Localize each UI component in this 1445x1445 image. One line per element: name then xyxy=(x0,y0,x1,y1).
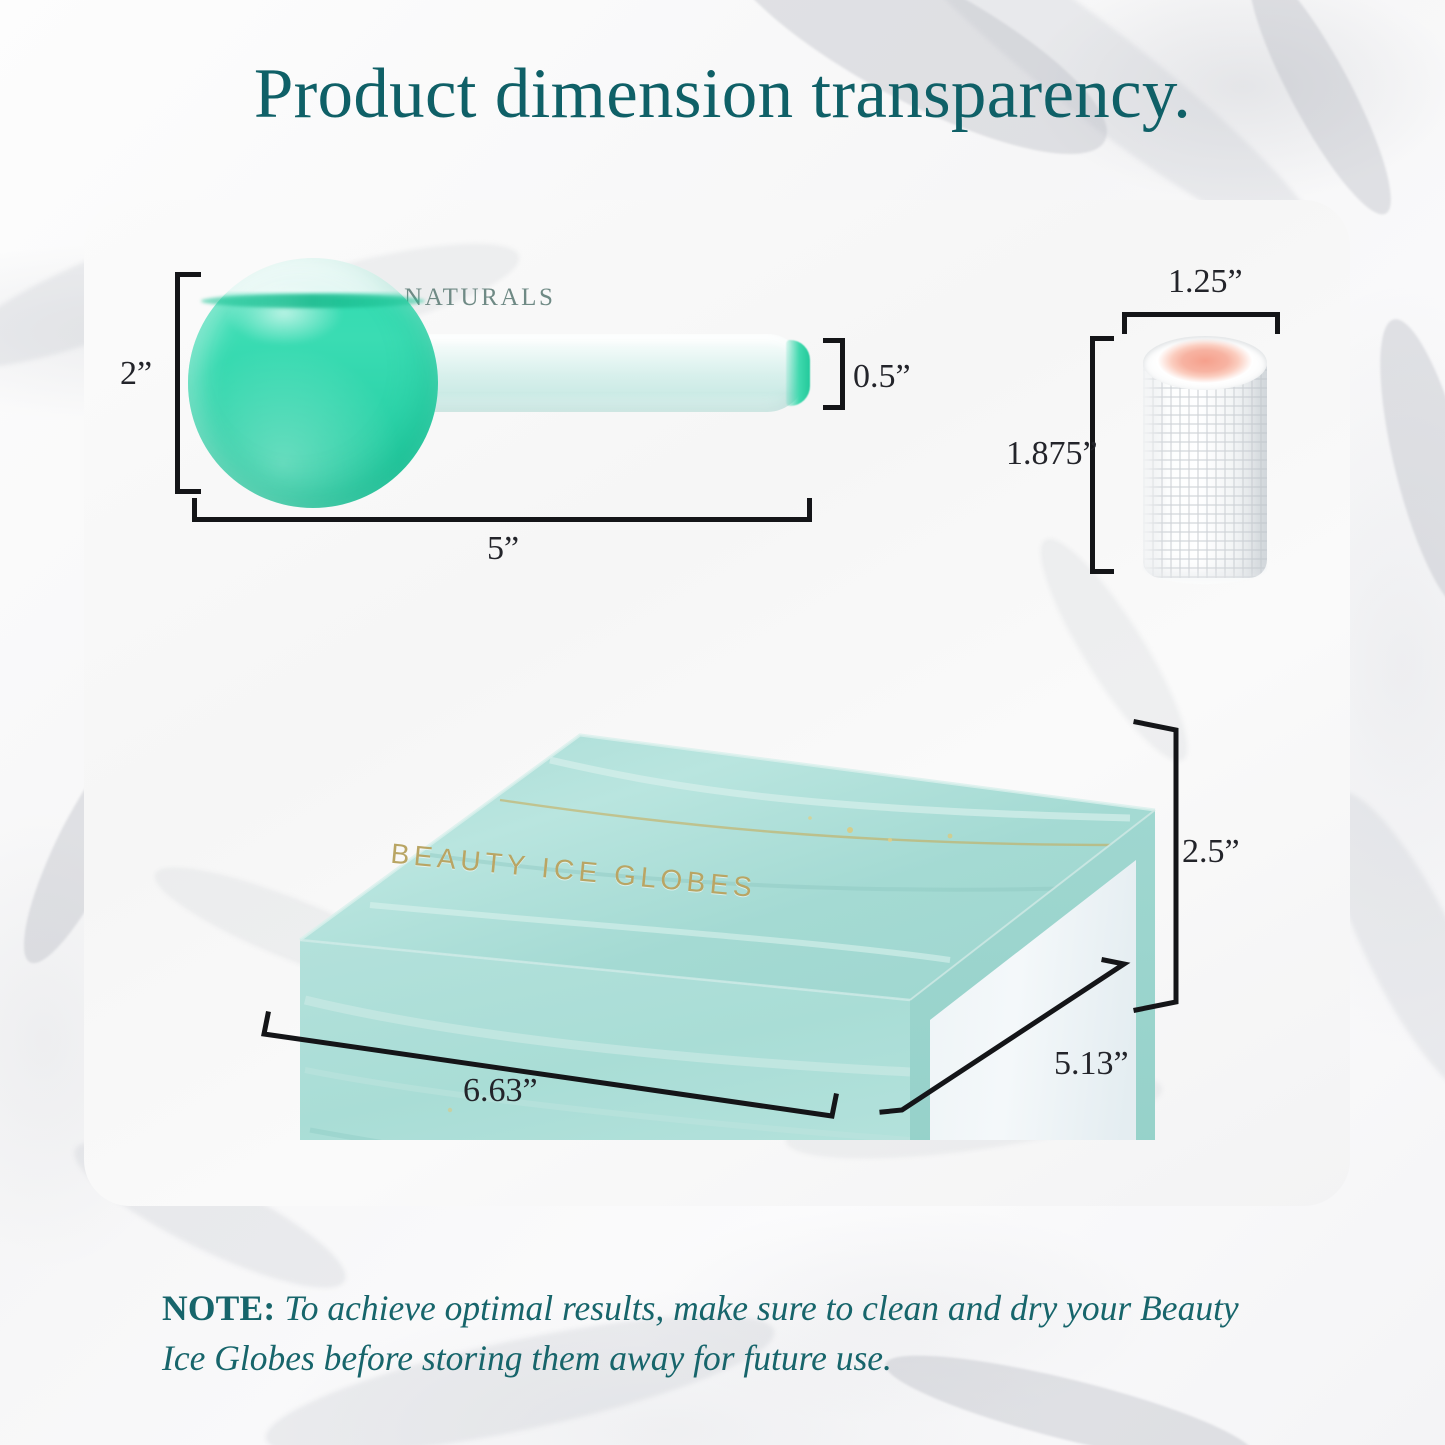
bracket-roller-width xyxy=(1122,312,1280,334)
note-text: NOTE: To achieve optimal results, make s… xyxy=(162,1283,1287,1384)
page-title: Product dimension transparency. xyxy=(0,58,1445,130)
dim-box-width: 6.63” xyxy=(463,1072,538,1110)
dim-globe-handle-width: 0.5” xyxy=(853,358,911,396)
note-prefix: NOTE: xyxy=(162,1288,275,1328)
bracket-globe-length xyxy=(192,498,812,522)
dim-globe-height: 2” xyxy=(120,355,152,393)
note-body: To achieve optimal results, make sure to… xyxy=(162,1288,1239,1378)
dim-roller-height: 1.875” xyxy=(1006,435,1098,473)
globe-highlight xyxy=(224,280,344,346)
bracket-globe-handle-width xyxy=(823,338,845,410)
roller-opening xyxy=(1143,336,1267,390)
dim-roller-width: 1.25” xyxy=(1168,263,1243,301)
bracket-globe-height xyxy=(175,272,201,494)
handle-tip xyxy=(786,340,810,406)
bracket-box-width xyxy=(258,1000,858,1130)
dim-globe-length: 5” xyxy=(487,530,519,568)
roller-cover-illustration xyxy=(1135,330,1275,580)
ice-globe-handle xyxy=(406,334,806,412)
dim-box-depth: 5.13” xyxy=(1054,1045,1129,1083)
ice-globe-illustration: SATAVI NATURALS xyxy=(188,258,828,508)
dim-box-height: 2.5” xyxy=(1182,833,1240,871)
bracket-box-depth xyxy=(878,952,1158,1132)
globe-liquid-line xyxy=(201,294,425,308)
